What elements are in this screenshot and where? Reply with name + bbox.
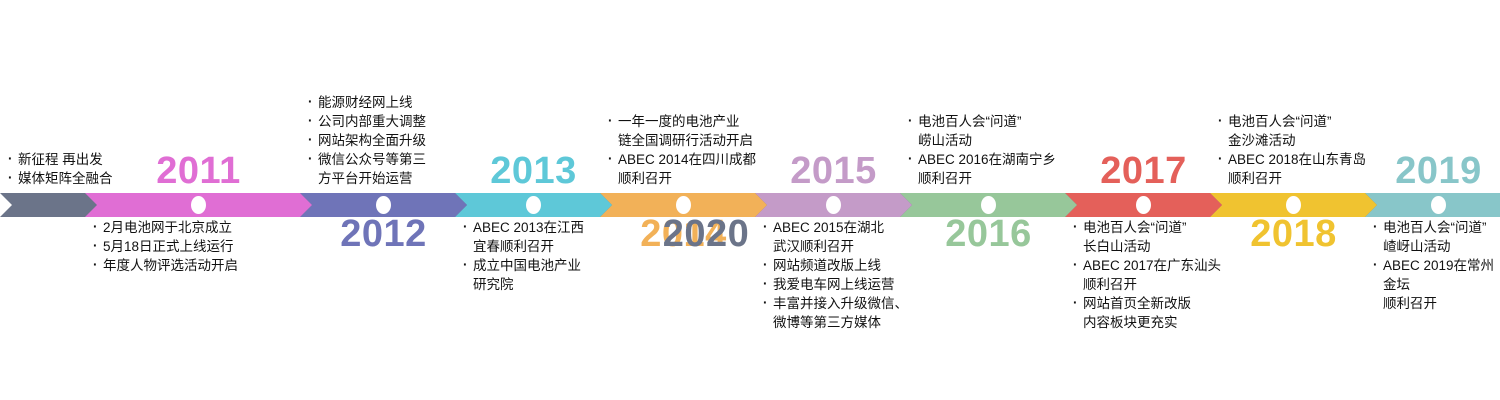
event-notes-2012: 能源财经网上线公司内部重大调整网站架构全面升级微信公众号等第三 方平台开始运营: [307, 93, 426, 188]
event-note-item: 年度人物评选活动开启: [92, 256, 238, 275]
event-note-item: 我爱电车网上线运营: [762, 275, 908, 294]
event-note-item: ABEC 2017在广东汕头 顺利召开: [1072, 256, 1221, 294]
event-notes-2013: ABEC 2013在江西 宜春顺利召开成立中国电池产业 研究院: [462, 218, 584, 294]
milestone-dot-icon: [981, 196, 996, 214]
event-note-item: 成立中国电池产业 研究院: [462, 256, 584, 294]
event-note-item: ABEC 2015在湖北 武汉顺利召开: [762, 218, 908, 256]
timeline-infographic: 2011201220132014201520162017201820192020…: [0, 0, 1500, 400]
milestone-dot-icon: [1136, 196, 1151, 214]
event-note-item: 网站频道改版上线: [762, 256, 908, 275]
year-label-2018: 2018: [1250, 215, 1337, 253]
timeline-segment-2011[interactable]: [85, 193, 312, 217]
event-note-item: 网站首页全新改版 内容板块更充实: [1072, 294, 1221, 332]
event-note-item: 微信公众号等第三 方平台开始运营: [307, 150, 426, 188]
milestone-dot-icon: [1286, 196, 1301, 214]
milestone-dot-icon: [1431, 196, 1446, 214]
event-notes-2018: 电池百人会“问道” 金沙滩活动ABEC 2018在山东青岛 顺利召开: [1217, 112, 1366, 188]
event-note-item: 网站架构全面升级: [307, 131, 426, 150]
event-notes-2016: 电池百人会“问道” 崂山活动ABEC 2016在湖南宁乡 顺利召开: [907, 112, 1056, 188]
year-label-2015: 2015: [790, 152, 877, 190]
event-note-item: ABEC 2018在山东青岛 顺利召开: [1217, 150, 1366, 188]
event-note-item: 电池百人会“问道” 长白山活动: [1072, 218, 1221, 256]
event-notes-2019: 电池百人会“问道” 嵖岈山活动ABEC 2019在常州金坛 顺利召开: [1372, 218, 1500, 313]
event-note-item: 2月电池网于北京成立: [92, 218, 238, 237]
timeline-segment-2012[interactable]: [300, 193, 467, 217]
event-note-item: 能源财经网上线: [307, 93, 426, 112]
year-label-2019: 2019: [1395, 152, 1482, 190]
event-note-item: ABEC 2013在江西 宜春顺利召开: [462, 218, 584, 256]
event-note-item: 丰富并接入升级微信、 微博等第三方媒体: [762, 294, 908, 332]
event-notes-2011: 2月电池网于北京成立5月18日正式上线运行年度人物评选活动开启: [92, 218, 238, 275]
milestone-dot-icon: [376, 196, 391, 214]
event-note-item: 电池百人会“问道” 金沙滩活动: [1217, 112, 1366, 150]
year-label-2011: 2011: [156, 152, 240, 190]
milestone-dot-icon: [526, 196, 541, 214]
event-note-item: ABEC 2014在四川成都 顺利召开: [607, 150, 756, 188]
year-label-2020: 2020: [663, 215, 750, 253]
year-label-2016: 2016: [945, 215, 1032, 253]
milestone-dot-icon: [676, 196, 691, 214]
event-note-item: ABEC 2016在湖南宁乡 顺利召开: [907, 150, 1056, 188]
event-note-item: 公司内部重大调整: [307, 112, 426, 131]
event-notes-2015: ABEC 2015在湖北 武汉顺利召开网站频道改版上线我爱电车网上线运营丰富并接…: [762, 218, 908, 332]
event-note-item: ABEC 2019在常州金坛 顺利召开: [1372, 256, 1500, 313]
timeline-segment-2014[interactable]: [600, 193, 767, 217]
year-label-2013: 2013: [490, 152, 577, 190]
year-label-2017: 2017: [1100, 152, 1187, 190]
event-notes-2020: 新征程 再出发媒体矩阵全融合: [7, 150, 113, 188]
timeline-segment-2017[interactable]: [1065, 193, 1222, 217]
event-note-item: 一年一度的电池产业 链全国调研行活动开启: [607, 112, 756, 150]
event-note-item: 电池百人会“问道” 崂山活动: [907, 112, 1056, 150]
event-notes-2017: 电池百人会“问道” 长白山活动ABEC 2017在广东汕头 顺利召开网站首页全新…: [1072, 218, 1221, 332]
year-label-2012: 2012: [340, 215, 427, 253]
milestone-dot-icon: [826, 196, 841, 214]
timeline-segment-2013[interactable]: [455, 193, 612, 217]
milestone-dot-icon: [191, 196, 206, 214]
timeline-segment-2019[interactable]: [1365, 193, 1500, 217]
event-notes-2014: 一年一度的电池产业 链全国调研行活动开启ABEC 2014在四川成都 顺利召开: [607, 112, 756, 188]
timeline-segment-2015[interactable]: [755, 193, 912, 217]
timeline-band: [0, 193, 1500, 217]
event-note-item: 新征程 再出发: [7, 150, 113, 169]
event-note-item: 电池百人会“问道” 嵖岈山活动: [1372, 218, 1500, 256]
timeline-segment-2018[interactable]: [1210, 193, 1377, 217]
timeline-segment-2016[interactable]: [900, 193, 1077, 217]
event-note-item: 5月18日正式上线运行: [92, 237, 238, 256]
event-note-item: 媒体矩阵全融合: [7, 169, 113, 188]
